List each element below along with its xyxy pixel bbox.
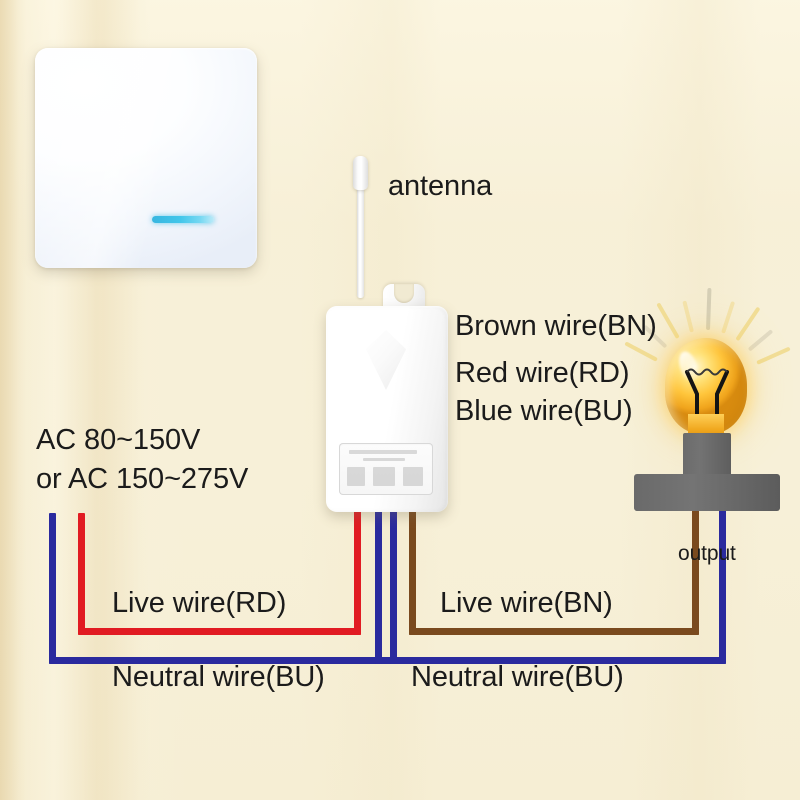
brown-wire-label: Brown wire(BN)	[455, 310, 657, 343]
wire-mains-live-red-left-horizontal	[78, 628, 361, 635]
bulb-ray-2	[656, 302, 679, 339]
wall-switch-sheen	[35, 48, 257, 268]
light-bulb-socket-base	[634, 474, 780, 511]
neutral-wire-right-label: Neutral wire(BU)	[411, 661, 624, 694]
wall-switch-led-indicator	[152, 216, 214, 223]
antenna-cap-icon	[353, 156, 368, 190]
bulb-ray-7	[748, 329, 774, 351]
wire-load-live-brown-horizontal	[409, 628, 699, 635]
wire-controller-blue-out-drop	[390, 509, 397, 664]
neutral-wire-left-label: Neutral wire(BU)	[112, 661, 325, 694]
red-wire-label: Red wire(RD)	[455, 357, 629, 390]
light-bulb-filament-icon	[681, 368, 733, 416]
light-bulb-socket-collar	[683, 433, 731, 478]
antenna-label: antenna	[388, 170, 492, 203]
bulb-ray-4	[706, 288, 711, 330]
controller-rating-label	[339, 443, 433, 495]
bulb-ray-6	[736, 306, 761, 341]
blue-wire-label: Blue wire(BU)	[455, 395, 633, 428]
wire-controller-brown-drop	[409, 509, 416, 635]
live-wire-rd-label: Live wire(RD)	[112, 587, 286, 620]
wire-controller-red-drop	[354, 509, 361, 635]
controller-mount-hook-notch	[394, 284, 414, 303]
bulb-ray-8	[756, 347, 791, 365]
wire-lamp-blue-lead	[719, 509, 726, 664]
voltage-spec-line-1: AC 80~150V	[36, 424, 200, 457]
antenna-rod	[357, 178, 364, 298]
wire-lamp-brown-lead	[692, 509, 699, 635]
wire-controller-blue-in-drop	[375, 509, 382, 664]
output-label: output	[678, 542, 736, 566]
wiring-diagram: antenna AC 80~150V or AC 150~275V Brown …	[0, 0, 800, 800]
wire-mains-neutral-blue-left-vertical	[49, 513, 56, 664]
bulb-ray-5	[721, 301, 735, 334]
bulb-ray-3	[683, 300, 695, 332]
wall-switch-panel[interactable]	[35, 48, 257, 268]
voltage-spec-line-2: or AC 150~275V	[36, 463, 248, 496]
live-wire-bn-label: Live wire(BN)	[440, 587, 613, 620]
wire-mains-live-red-left-vertical	[78, 513, 85, 635]
